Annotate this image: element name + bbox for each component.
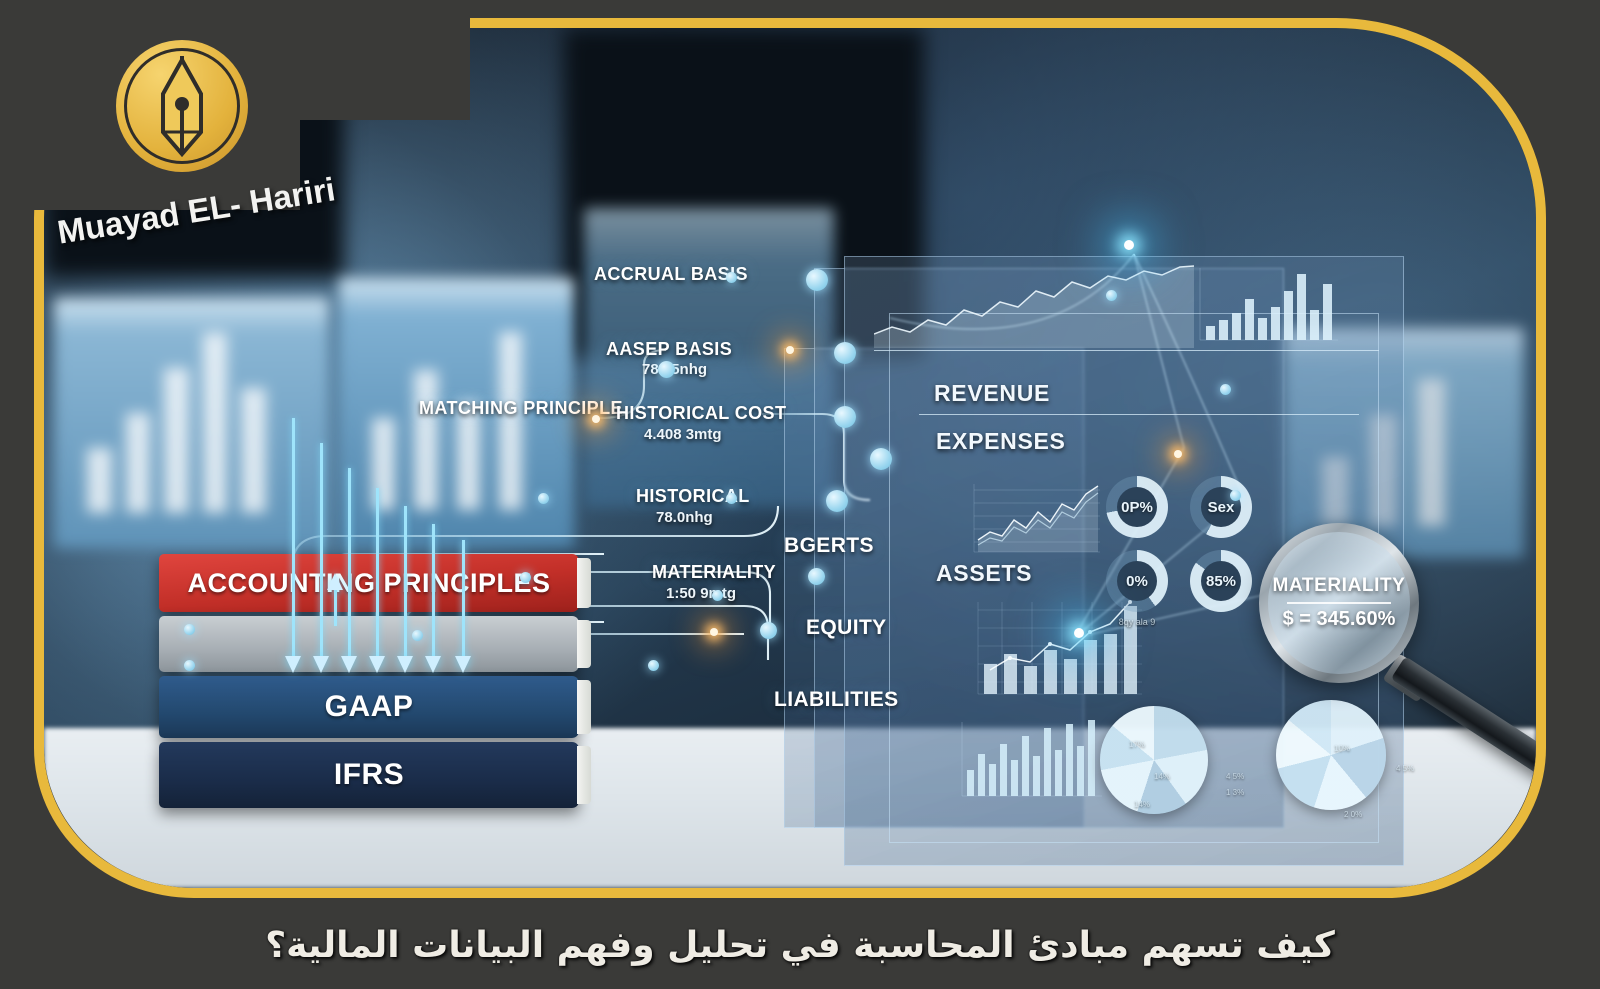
flow-arrow [432,524,435,658]
light-flare-cyan [1124,240,1134,250]
light-flare [592,415,600,423]
pie-left-slice-label: 1 3% [1226,788,1244,797]
divider [919,414,1359,415]
book-title: GAAP [325,690,414,724]
caption-text: كيف تسهم مبادئ المحاسبة في تحليل وفهم ال… [265,925,1335,966]
chart-top-right-bars [1190,264,1338,350]
node-aasep-basis [834,342,856,364]
gauge-0-value: 0P% [1121,499,1153,516]
logo-ring [124,48,240,164]
node-dot [658,361,675,378]
gauge-1-value: Sex [1208,499,1235,516]
node-dot [184,660,195,671]
book-gaap: GAAP [159,676,579,738]
node-dot [412,630,423,641]
pie-left-slice-label: 17% [1129,740,1145,749]
chart-revenue-trend [874,264,1194,348]
magnifier-lens: MATERIALITY $ = 345.60% [1259,523,1419,683]
light-flare [786,346,794,354]
flow-arrow-up [334,588,337,626]
book-title: IFRS [334,758,404,792]
book-ifrs: IFRS [159,742,579,808]
section-assets: ASSETS [936,560,1032,587]
pie-chart-right [1276,700,1386,810]
node-historical-cost [834,406,856,428]
light-flare [1174,450,1182,458]
value-materiality: 1:50 9mtg [666,585,736,602]
label-accrual-basis: ACCRUAL BASIS [594,264,748,285]
label-aasep-basis: AASEP BASIS [606,339,732,360]
gauge-2: 0% [1106,550,1168,612]
gauge-3: 85% [1190,550,1252,612]
node-dot [1106,290,1117,301]
flow-arrow [348,468,351,658]
magnifier-divider [1287,602,1391,604]
magnifier-title: MATERIALITY [1273,575,1406,597]
value-historical: 78.0nhg [656,509,713,526]
book-pages [577,558,591,608]
node-equity [760,622,777,639]
node-dot [184,624,195,635]
label-equity: EQUITY [806,616,887,640]
node-materiality [808,568,825,585]
book-pages [577,746,591,804]
node-dot [520,572,531,583]
flow-arrow [462,540,465,658]
pie-left-slice-label: 14% [1134,800,1150,809]
pie-left-slice-label: 14% [1154,772,1170,781]
pie-right-slice-label: 2 0% [1344,810,1362,819]
pie-right-slice-label: 4 5% [1396,764,1414,773]
node-dot [538,493,549,504]
node-dot [712,590,723,601]
flow-arrow [292,418,295,658]
light-flare-cyan [1074,628,1084,638]
book-stack: ACCOUNTING PRINCIPLES GAAP IFRS [159,554,579,808]
flow-arrow [376,488,379,658]
node-dot [870,448,892,470]
section-expenses: EXPENSES [936,428,1066,455]
light-flare [710,628,718,636]
node-dot [1220,384,1231,395]
book-pages [577,680,591,734]
flow-arrow [320,443,323,658]
divider [874,350,1379,351]
label-liabilities: LIABILITIES [774,688,899,712]
book-pages [577,620,591,668]
label-historical-cost: HISTORICAL COST [616,403,786,424]
node-accrual-basis [806,269,828,291]
value-historical-cost: 4.408 3mtg [644,426,722,443]
chart-liabilities-bars [952,718,1102,806]
caption-bar: كيف تسهم مبادئ المحاسبة في تحليل وفهم ال… [0,901,1600,989]
pie-left-slice-label: 4 5% [1226,772,1244,781]
node-dot [648,660,659,671]
magnifier-value: $ = 345.60% [1283,608,1396,631]
gauge-2-value: 0% [1126,573,1148,590]
flow-arrow [404,506,407,658]
label-bgerts: BGERTS [784,534,874,558]
node-historical [826,490,848,512]
book-title: ACCOUNTING PRINCIPLES [187,568,550,599]
label-materiality: MATERIALITY [652,562,776,583]
gauge-0: 0P% [1106,476,1168,538]
gauge-3-value: 85% [1206,573,1236,590]
section-revenue: REVENUE [934,380,1050,407]
gauge-2-sublabel: 8qy ala 9 [1104,612,1170,630]
book-accounting-principles: ACCOUNTING PRINCIPLES [159,554,579,612]
pen-nib-icon [116,40,248,172]
chart-expenses-lines [962,480,1100,562]
node-dot [726,493,737,504]
node-dot [1230,490,1241,501]
node-dot [726,272,737,283]
pie-chart-left [1100,706,1208,814]
pie-right-slice-label: 10% [1334,744,1350,753]
gauge-1: Sex [1190,476,1252,538]
